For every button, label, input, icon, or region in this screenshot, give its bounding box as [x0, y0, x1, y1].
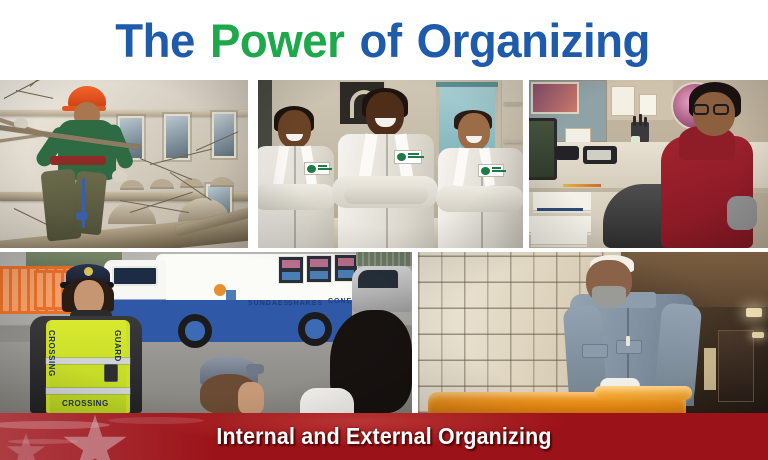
- glasses-left-lens: [693, 104, 709, 115]
- glasses-right-lens: [713, 104, 729, 115]
- vest-text-guard: GUARD: [113, 330, 122, 362]
- title-word-organizing: Organizing: [417, 14, 650, 67]
- title-word-the: The: [115, 14, 195, 67]
- face: [366, 92, 404, 136]
- white-shirt: [300, 388, 354, 413]
- pencil: [563, 184, 601, 187]
- truck-menu-panel: [306, 255, 332, 283]
- photo-grid: SUNDAES SHAKES CONES: [0, 80, 768, 413]
- climbing-rope: [82, 178, 85, 228]
- monitor-screen: [529, 121, 554, 177]
- phone-handset: [555, 146, 579, 160]
- pen-in-pocket: [626, 336, 630, 346]
- vest-text-crossing: CROSSING: [47, 330, 56, 377]
- truck-logo: [226, 290, 236, 300]
- ceiling-light: [746, 308, 762, 317]
- photo-lab-coat-workers: [258, 80, 523, 248]
- logo-patch: [394, 150, 422, 164]
- truck-text-sundaes: SUNDAES: [248, 300, 289, 307]
- window: [212, 112, 236, 158]
- beard: [592, 286, 626, 308]
- truck-windshield: [112, 266, 158, 286]
- vest-reflective-strip: [46, 388, 130, 394]
- background-fence: [356, 252, 412, 266]
- crossed-arms: [258, 184, 336, 210]
- radio-clip: [104, 364, 118, 382]
- face: [458, 113, 490, 150]
- car-window: [358, 270, 398, 288]
- page-title: The Power of Organizing: [115, 17, 653, 64]
- pen: [633, 116, 636, 126]
- corridor-door: [718, 330, 754, 402]
- truck-text-shakes: SHAKES: [288, 300, 323, 307]
- title-word-of: of: [359, 14, 401, 67]
- vest-text-crossing-bottom: CROSSING: [62, 399, 109, 408]
- pen: [639, 114, 642, 126]
- truck-wheel: [298, 312, 332, 346]
- title-bar: The Power of Organizing: [0, 0, 768, 80]
- pen: [644, 117, 647, 127]
- window: [164, 114, 190, 160]
- shelf-line: [504, 140, 522, 143]
- cap-badge: [84, 267, 93, 276]
- monitor: [529, 118, 557, 180]
- photo-crossing-guard: SUNDAES SHAKES CONES: [0, 252, 412, 413]
- logo-patch: [478, 164, 504, 177]
- poster: The Power of Organizing: [0, 0, 768, 460]
- worker-arm: [727, 196, 757, 230]
- crossed-arms: [436, 186, 523, 212]
- photo-office-worker: [529, 80, 768, 248]
- cap-brim: [246, 364, 264, 374]
- shelf-line: [504, 102, 522, 105]
- posted-paper: [639, 94, 657, 116]
- papers-stack: [529, 216, 591, 232]
- title-word-power: Power: [210, 14, 344, 67]
- wall-light: [752, 332, 764, 338]
- face: [278, 110, 311, 148]
- truck-logo: [214, 284, 226, 296]
- cart-handle: [594, 386, 692, 400]
- pen-on-desk: [537, 208, 583, 211]
- phone-keypad: [587, 150, 611, 160]
- corridor-wall-panel: [704, 348, 716, 390]
- truck-menu-panel: [278, 256, 304, 284]
- childs-face: [238, 382, 264, 413]
- photo-tree-worker: [0, 80, 248, 248]
- carabiner: [76, 212, 88, 220]
- photo-custodial-worker: [418, 252, 768, 413]
- uniform-pocket: [582, 344, 608, 358]
- desk-phone: [583, 146, 617, 164]
- logo-patch: [304, 162, 330, 175]
- truck-wheel: [178, 314, 212, 348]
- papers-stack: [531, 232, 587, 244]
- forearm: [344, 186, 428, 204]
- banner-title: Internal and External Organizing: [27, 413, 741, 460]
- worker-glove-right: [112, 170, 127, 182]
- safety-harness: [50, 156, 106, 165]
- bottom-banner: Internal and External Organizing: [0, 413, 768, 460]
- wall-art: [531, 82, 579, 114]
- door-frame-bar: [436, 82, 498, 87]
- posted-paper: [611, 86, 635, 116]
